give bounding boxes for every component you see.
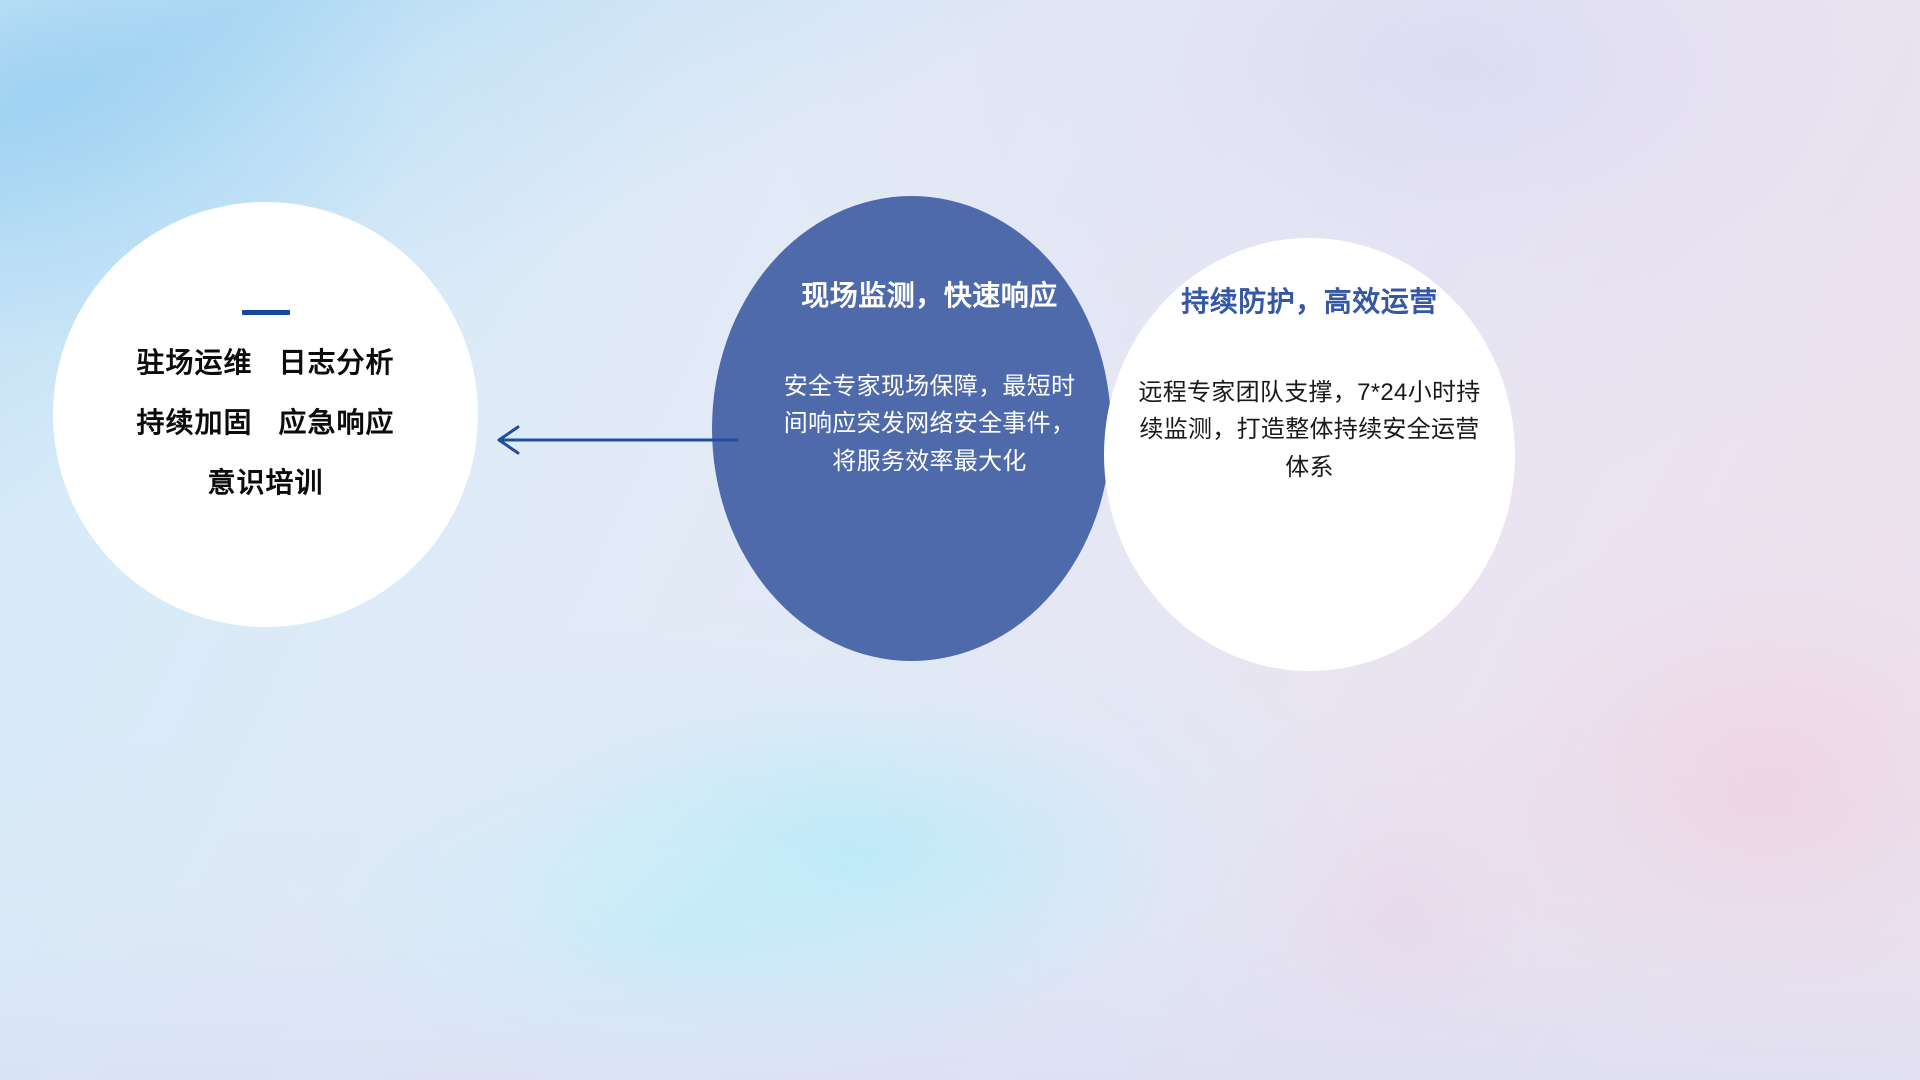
capability-tag-yingjixiangying: 应急响应 [279,407,395,438]
middle-circle-body: 安全专家现场保障，最短时间响应突发网络安全事件，将服务效率最大化 [781,368,1079,480]
blue-dash-divider-icon [242,310,290,315]
right-circle-body: 远程专家团队支撑，7*24小时持续监测，打造整体持续安全运营体系 [1134,374,1486,486]
left-arrow-icon [488,418,738,462]
capability-tag-row-2: 持续加固应急响应 [136,409,394,437]
capability-circle-right[interactable]: 持续防护，高效运营 远程专家团队支撑，7*24小时持续监测，打造整体持续安全运营… [1104,238,1515,671]
slide-canvas: 驻场运维日志分析 持续加固应急响应 意识培训 现场监测，快速响应 安全专家现场保… [0,0,1920,1080]
capability-tag-list: 驻场运维日志分析 持续加固应急响应 意识培训 [53,349,478,497]
capability-tag-row-1: 驻场运维日志分析 [136,349,394,377]
capability-tag-rizhifenxi: 日志分析 [279,347,395,378]
middle-circle-title: 现场监测，快速响应 [801,282,1058,310]
capability-tag-row-3: 意识培训 [207,469,323,497]
capability-tag-yishipeixun: 意识培训 [207,467,323,498]
right-circle-title: 持续防护，高效运营 [1181,288,1438,316]
capability-circle-middle[interactable]: 现场监测，快速响应 安全专家现场保障，最短时间响应突发网络安全事件，将服务效率最… [712,196,1111,661]
capability-tag-zhuchangyunwei: 驻场运维 [136,347,252,378]
capability-circle-left[interactable]: 驻场运维日志分析 持续加固应急响应 意识培训 [53,202,478,627]
capability-tag-chixujiagu: 持续加固 [136,407,252,438]
